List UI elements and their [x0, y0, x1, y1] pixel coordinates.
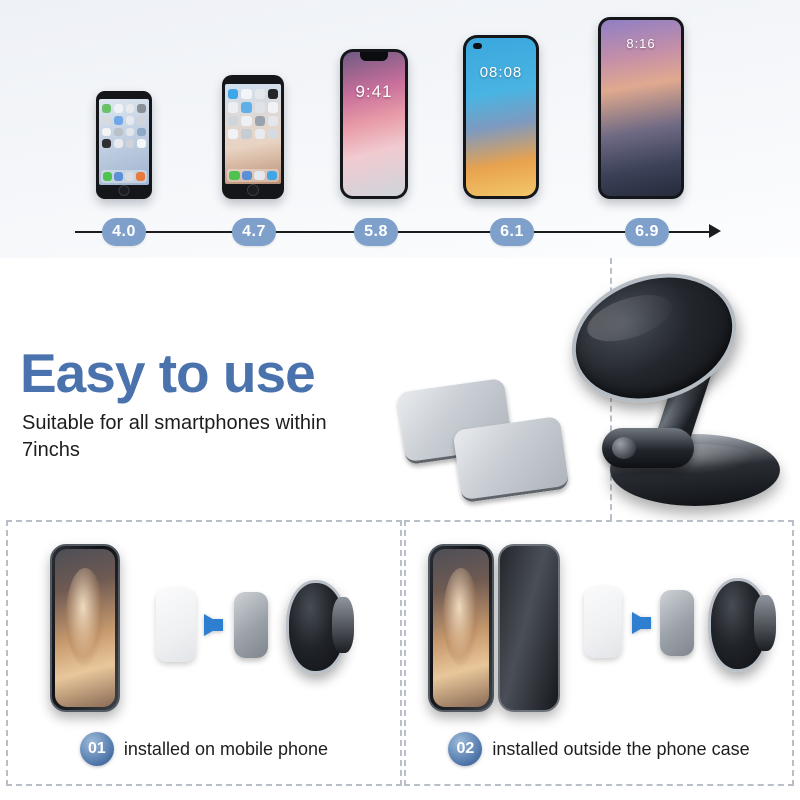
mount-magnetic-head — [555, 253, 753, 423]
phone-5-8: 9:41 — [340, 49, 408, 199]
step-label: installed on mobile phone — [124, 739, 328, 760]
subtitle: Suitable for all smartphones within 7inc… — [22, 410, 352, 464]
metal-plate — [452, 416, 569, 503]
lock-screen-clock: 08:08 — [466, 64, 536, 81]
wallpaper — [55, 549, 115, 707]
magnetic-car-mount-product — [560, 268, 790, 513]
status-bar — [343, 52, 405, 59]
mount-magnetic-head — [286, 580, 348, 674]
phone-6-1: 08:08 — [463, 35, 539, 199]
mount-hinge — [602, 428, 694, 468]
step-01-illustration — [8, 528, 400, 724]
protective-film — [584, 586, 622, 658]
home-button-icon — [119, 185, 130, 196]
phone-screen: 9:41 — [343, 52, 405, 196]
step-card-02: 02 installed outside the phone case — [404, 520, 794, 786]
headline: Easy to use — [20, 346, 315, 401]
size-badge-4-0: 4.0 — [102, 218, 146, 246]
size-comparison-section: 9:41 08:08 8:16 — [0, 0, 800, 258]
size-badge-6-1: 6.1 — [490, 218, 534, 246]
timeline-arrow-icon — [709, 224, 721, 238]
step-number-badge: 01 — [80, 732, 114, 766]
wallpaper — [433, 549, 489, 707]
phone-4-0 — [96, 91, 152, 199]
home-button-icon — [247, 184, 259, 196]
phone-screen — [99, 99, 149, 185]
mount-magnetic-head — [708, 578, 770, 672]
assembly-arrow-icon — [204, 614, 223, 636]
phone-6-9: 8:16 — [598, 17, 684, 199]
phone-back — [50, 544, 120, 712]
size-badge-6-9: 6.9 — [625, 218, 669, 246]
protective-film — [156, 588, 196, 662]
metal-plate — [234, 592, 268, 658]
step-card-01: 01 installed on mobile phone — [6, 520, 402, 786]
step-01-caption: 01 installed on mobile phone — [8, 732, 400, 766]
phones-row: 9:41 08:08 8:16 — [0, 0, 800, 205]
size-badge-4-7: 4.7 — [232, 218, 276, 246]
status-bar — [466, 38, 536, 45]
lock-screen-clock: 9:41 — [343, 82, 405, 102]
product-infographic: 9:41 08:08 8:16 — [0, 0, 800, 800]
installation-steps: 01 installed on mobile phone 02 installe… — [0, 520, 800, 792]
status-bar — [601, 20, 681, 27]
metal-plate — [660, 590, 694, 656]
phone-case — [498, 544, 560, 712]
size-timeline: 4.0 4.7 5.8 6.1 6.9 — [0, 205, 800, 258]
lock-screen-clock: 8:16 — [601, 36, 681, 51]
phone-screen — [225, 84, 281, 184]
phone-4-7 — [222, 75, 284, 199]
step-number-badge: 02 — [448, 732, 482, 766]
step-02-illustration — [406, 528, 792, 724]
phone-screen: 08:08 — [466, 38, 536, 196]
phone-back — [428, 544, 494, 712]
step-label: installed outside the phone case — [492, 739, 749, 760]
assembly-arrow-icon — [632, 612, 651, 634]
phone-dock — [101, 170, 147, 183]
phone-dock — [227, 169, 279, 182]
phone-screen: 8:16 — [601, 20, 681, 196]
size-badge-5-8: 5.8 — [354, 218, 398, 246]
step-02-caption: 02 installed outside the phone case — [406, 732, 792, 766]
